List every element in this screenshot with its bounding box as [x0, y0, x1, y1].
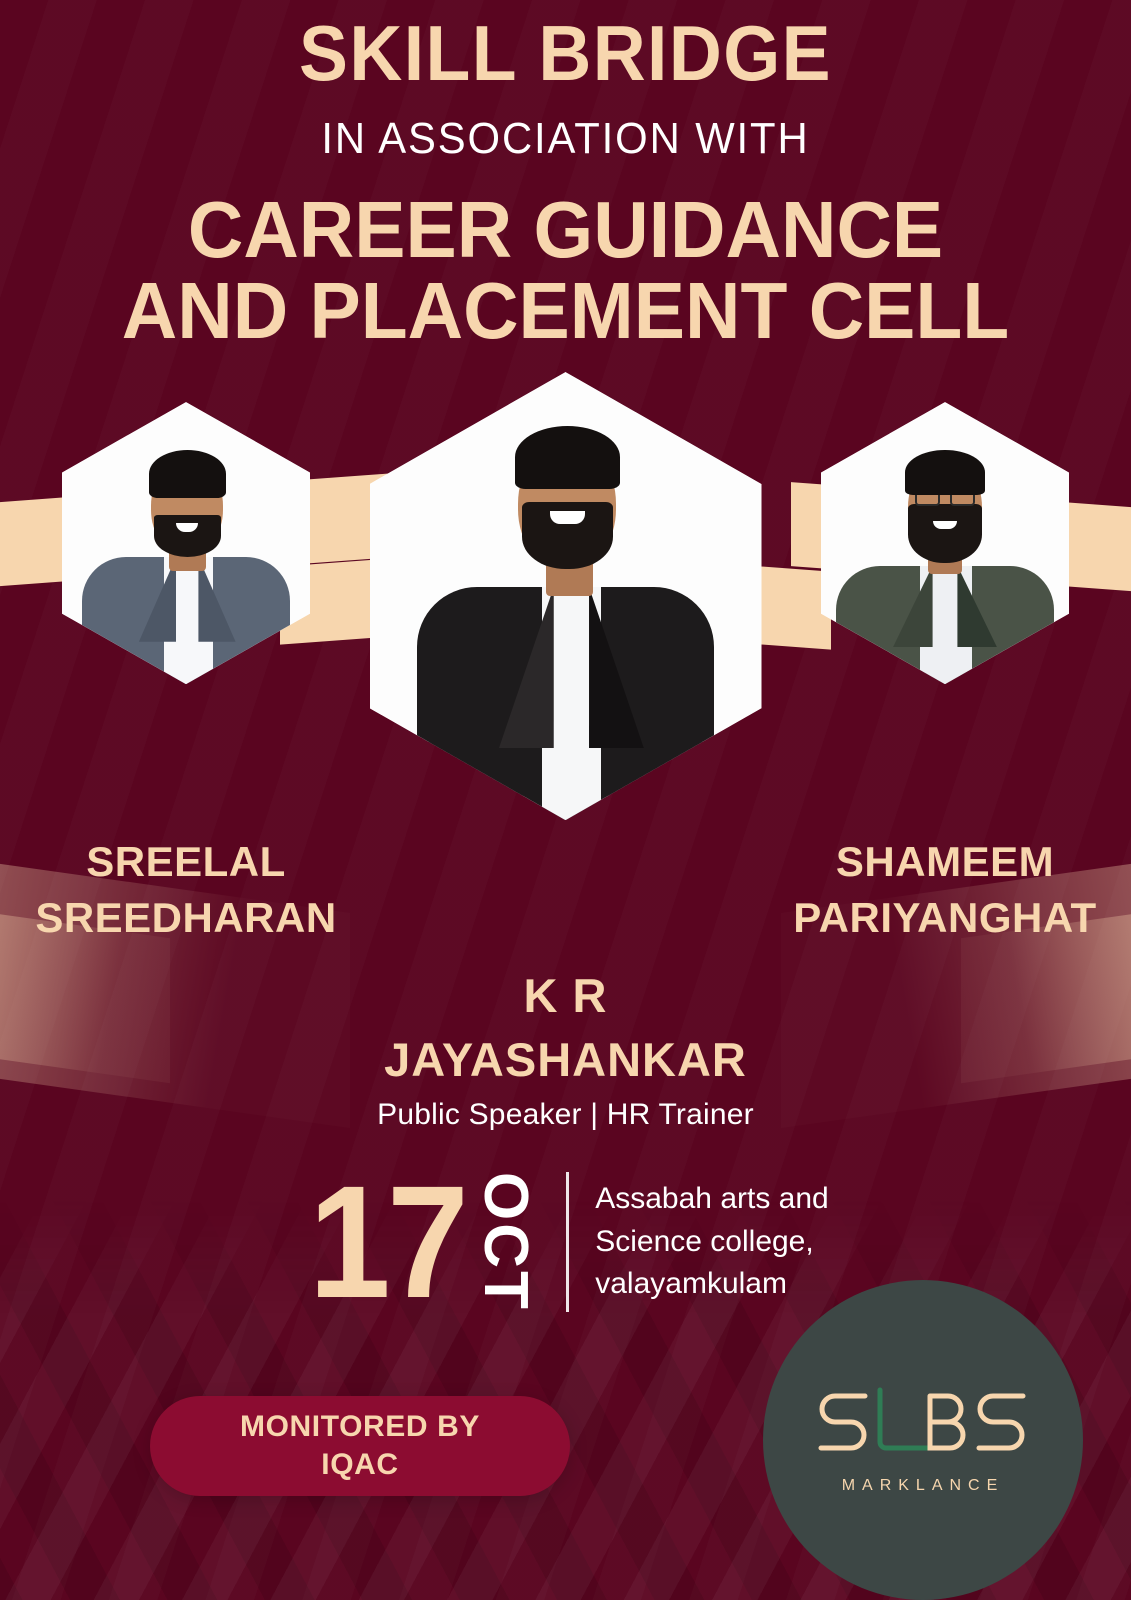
event-poster: SKILL BRIDGE IN ASSOCIATION WITH CAREER …	[0, 0, 1131, 1600]
speaker-name-left-line2: SREEDHARAN	[6, 890, 366, 945]
venue-line3: valayamkulam	[595, 1263, 828, 1306]
event-day: 17	[309, 1175, 465, 1309]
poster-header: SKILL BRIDGE IN ASSOCIATION WITH CAREER …	[0, 0, 1131, 352]
portrait-hair	[905, 450, 984, 495]
speaker-names: SREELAL SREEDHARAN SHAMEEM PARIYANGHAT K…	[0, 844, 1131, 1132]
speaker-name-right: SHAMEEM PARIYANGHAT	[765, 834, 1125, 945]
speaker-name-right-line2: PARIYANGHAT	[765, 890, 1125, 945]
organisation-name-line2: AND PLACEMENT CELL	[23, 270, 1109, 352]
speaker-name-center-line1: K R	[0, 964, 1131, 1028]
event-month: OCT	[474, 1172, 536, 1312]
poster-footer: MONITORED BY IQAC MARKLANCE	[0, 1370, 1131, 1600]
portrait-mouth	[550, 511, 585, 524]
speaker-photo-center	[370, 372, 762, 820]
speaker-name-left-line1: SREELAL	[6, 834, 366, 889]
poster-subtitle: IN ASSOCIATION WITH	[28, 117, 1102, 161]
portrait-beard	[154, 515, 221, 557]
portrait-sreelal-sreedharan	[62, 402, 310, 684]
venue-line1: Assabah arts and	[595, 1178, 828, 1221]
slbs-logo-tagline: MARKLANCE	[842, 1477, 1005, 1495]
monitored-by-label: MONITORED BY	[240, 1410, 480, 1444]
portrait-beard	[908, 504, 982, 563]
speaker-name-left: SREELAL SREEDHARAN	[6, 834, 366, 945]
speaker-photo-right	[821, 402, 1069, 684]
portrait-hair	[149, 450, 226, 498]
monitored-by-body: IQAC	[321, 1448, 398, 1482]
speaker-photo-row	[0, 384, 1131, 844]
portrait-shameem-pariyanghat	[821, 402, 1069, 684]
event-venue: Assabah arts and Science college, valaya…	[595, 1178, 828, 1306]
organisation-name-line1: CAREER GUIDANCE	[23, 189, 1109, 271]
poster-title: SKILL BRIDGE	[34, 16, 1097, 91]
slbs-logo-mark	[818, 1384, 1028, 1467]
portrait-hair	[515, 426, 621, 489]
monitored-by-badge: MONITORED BY IQAC	[150, 1396, 570, 1496]
venue-line2: Science college,	[595, 1221, 828, 1264]
vertical-divider	[566, 1172, 569, 1312]
slbs-wordmark-icon	[818, 1384, 1028, 1462]
speaker-photo-left	[62, 402, 310, 684]
slbs-logo: MARKLANCE	[763, 1280, 1083, 1600]
speaker-name-center-line2: JAYASHANKAR	[0, 1028, 1131, 1092]
portrait-k-r-jayashankar	[370, 372, 762, 820]
speaker-role: Public Speaker | HR Trainer	[0, 1098, 1131, 1132]
speaker-name-right-line1: SHAMEEM	[765, 834, 1125, 889]
